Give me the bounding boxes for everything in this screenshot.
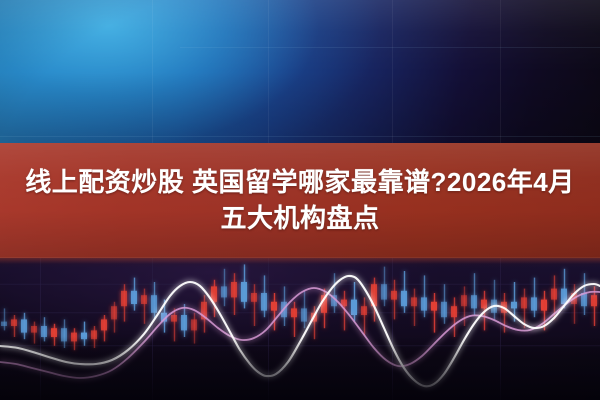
candle — [541, 300, 547, 311]
candle — [121, 291, 127, 306]
candle — [511, 302, 517, 309]
candle — [151, 295, 157, 313]
candle — [421, 297, 427, 310]
candle — [51, 328, 57, 337]
candle — [11, 319, 17, 326]
candle — [401, 291, 407, 306]
candle — [411, 297, 417, 306]
candle — [391, 291, 397, 300]
chart-canvas — [0, 258, 600, 400]
candle — [191, 319, 197, 330]
candle — [101, 319, 107, 330]
candle — [21, 319, 27, 332]
chart-bottom-fade — [0, 336, 600, 400]
candle — [291, 308, 297, 317]
page-title-line-2: 五大机构盘点 — [220, 202, 379, 235]
candle — [181, 315, 187, 330]
candle — [1, 322, 7, 326]
hero-grid-lines — [0, 0, 600, 144]
title-block: 线上配资炒股 英国留学哪家最靠谱?2026年4月 五大机构盘点 — [0, 143, 600, 258]
candlestick-chart — [0, 258, 600, 400]
candle — [251, 293, 257, 302]
page-title-line-1: 线上配资炒股 英国留学哪家最靠谱?2026年4月 — [25, 166, 574, 199]
candle — [241, 282, 247, 302]
candle — [531, 297, 537, 310]
candle — [351, 300, 357, 315]
candle — [221, 286, 227, 297]
candle — [471, 295, 477, 308]
candle — [361, 306, 367, 315]
banner-image: 线上配资炒股 英国留学哪家最靠谱?2026年4月 五大机构盘点 — [0, 0, 600, 400]
candle — [131, 291, 137, 304]
candle — [591, 295, 597, 306]
candle — [271, 302, 277, 311]
candle — [431, 302, 437, 311]
candle — [31, 326, 37, 333]
candle — [261, 293, 267, 311]
candle — [441, 302, 447, 317]
candle — [141, 295, 147, 304]
candle — [41, 326, 47, 337]
candle — [231, 282, 237, 297]
candle — [561, 289, 567, 304]
title-banner: 线上配资炒股 英国留学哪家最靠谱?2026年4月 五大机构盘点 — [0, 143, 600, 258]
candle — [521, 297, 527, 308]
candle — [171, 315, 177, 322]
candle — [551, 289, 557, 300]
candle — [461, 295, 467, 306]
candle — [111, 306, 117, 319]
candle — [451, 306, 457, 317]
candle — [481, 300, 487, 309]
candle — [381, 284, 387, 299]
candle — [301, 308, 307, 321]
